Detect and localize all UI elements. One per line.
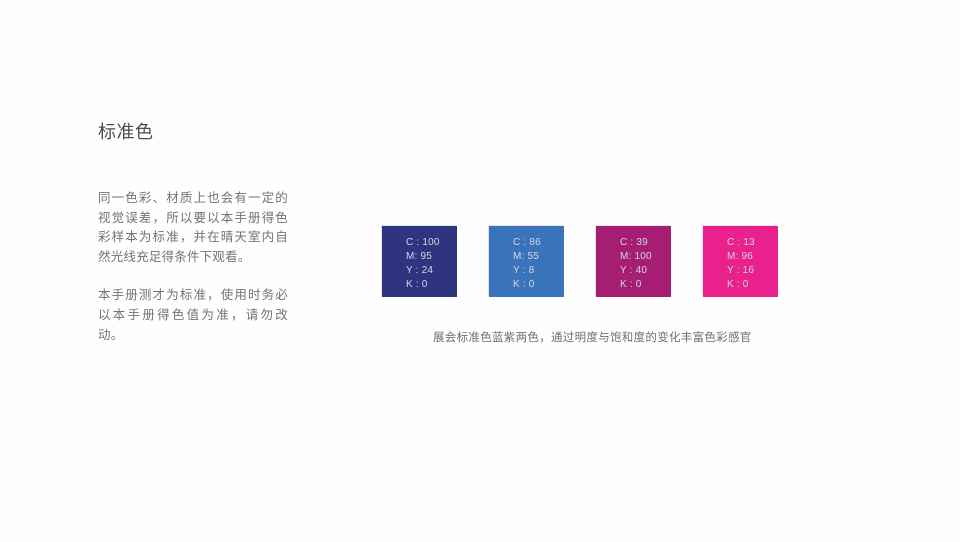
body-paragraph-2: 本手册测才为标准，使用时务必以本手册得色值为准，请勿改动。	[98, 286, 288, 345]
cmyk-key-value: K : 0	[406, 278, 440, 292]
cmyk-yellow-value: Y : 24	[406, 264, 440, 278]
cmyk-key-value: K : 0	[727, 278, 755, 292]
cmyk-cyan-value: C : 100	[406, 236, 440, 250]
color-swatch-indigo[interactable]: C : 100 M: 95 Y : 24 K : 0	[382, 226, 457, 297]
body-paragraph-1: 同一色彩、材质上也会有一定的视觉误差，所以要以本手册得色彩样本为标准，并在晴天室…	[98, 189, 288, 267]
cmyk-cyan-value: C : 39	[620, 236, 652, 250]
cmyk-yellow-value: Y : 40	[620, 264, 652, 278]
cmyk-cyan-value: C : 13	[727, 236, 755, 250]
cmyk-yellow-value: Y : 16	[727, 264, 755, 278]
cmyk-yellow-value: Y : 8	[513, 264, 541, 278]
cmyk-values-indigo: C : 100 M: 95 Y : 24 K : 0	[406, 236, 440, 292]
cmyk-key-value: K : 0	[513, 278, 541, 292]
cmyk-magenta-value: M: 95	[406, 250, 440, 264]
color-swatch-pink[interactable]: C : 13 M: 96 Y : 16 K : 0	[703, 226, 778, 297]
cmyk-values-pink: C : 13 M: 96 Y : 16 K : 0	[727, 236, 755, 292]
cmyk-magenta-value: M: 100	[620, 250, 652, 264]
color-swatch-blue[interactable]: C : 86 M: 55 Y : 8 K : 0	[489, 226, 564, 297]
cmyk-key-value: K : 0	[620, 278, 652, 292]
cmyk-cyan-value: C : 86	[513, 236, 541, 250]
cmyk-magenta-value: M: 96	[727, 250, 755, 264]
text-column: 标准色 同一色彩、材质上也会有一定的视觉误差，所以要以本手册得色彩样本为标准，并…	[98, 120, 288, 345]
cmyk-magenta-value: M: 55	[513, 250, 541, 264]
body-text-block: 同一色彩、材质上也会有一定的视觉误差，所以要以本手册得色彩样本为标准，并在晴天室…	[98, 189, 288, 345]
slide-canvas: 标准色 同一色彩、材质上也会有一定的视觉误差，所以要以本手册得色彩样本为标准，并…	[0, 0, 960, 542]
color-swatch-purple[interactable]: C : 39 M: 100 Y : 40 K : 0	[596, 226, 671, 297]
color-swatch-area: C : 100 M: 95 Y : 24 K : 0 C : 86 M: 55 …	[382, 226, 782, 297]
palette-caption: 展会标准色蓝紫两色，通过明度与饱和度的变化丰富色彩感官	[433, 329, 752, 347]
cmyk-values-purple: C : 39 M: 100 Y : 40 K : 0	[620, 236, 652, 292]
cmyk-values-blue: C : 86 M: 55 Y : 8 K : 0	[513, 236, 541, 292]
color-swatch-row: C : 100 M: 95 Y : 24 K : 0 C : 86 M: 55 …	[382, 226, 782, 297]
page-title: 标准色	[98, 120, 288, 144]
